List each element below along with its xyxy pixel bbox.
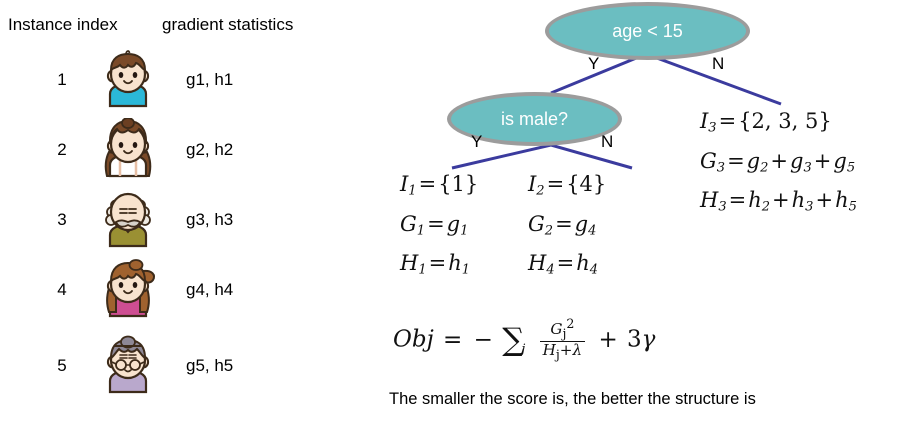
- objective-formula: Obj = − ∑j Gj2 Hj+λ + 3γ: [393, 318, 655, 363]
- leaf-middle-hessian-sum: H4=h4: [528, 247, 606, 287]
- fraction-denominator: Hj+λ: [540, 342, 586, 362]
- objective-fraction: Gj2 Hj+λ: [540, 317, 586, 362]
- leaf-left-gradient-sum: G1=g1: [400, 208, 478, 248]
- leaf-left-hessian-sum: H1=h1: [400, 247, 478, 287]
- leaf-stats-middle: I2={4} G2=g4 H4=h4: [528, 168, 606, 287]
- leaf-middle-gradient-sum: G2=g4: [528, 208, 606, 248]
- edge-label-ismale-no: N: [601, 132, 613, 152]
- edge-label-root-yes: Y: [588, 54, 599, 74]
- leaf-middle-instances: I2={4}: [528, 168, 606, 208]
- objective-gamma: γ: [642, 327, 656, 353]
- objective-coefficient: 3: [627, 327, 642, 353]
- edge-label-root-no: N: [712, 54, 724, 74]
- leaf-stats-right: I3={2, 3, 5} G3=g2+g3+g5 H3=h2+h3+h5: [700, 105, 857, 224]
- leaf-left-instances: I1={1}: [400, 168, 478, 208]
- summation-index: j: [521, 341, 525, 356]
- objective-minus: −: [472, 327, 495, 353]
- caption-text: The smaller the score is, the better the…: [389, 390, 756, 409]
- fraction-numerator: Gj2: [540, 317, 586, 342]
- objective-plus: +: [596, 327, 619, 353]
- leaf-right-gradient-sum: G3=g2+g3+g5: [700, 145, 857, 185]
- objective-equals: =: [441, 327, 464, 353]
- tree-node-age[interactable]: age < 15: [545, 2, 750, 60]
- objective-lhs: Obj: [393, 327, 434, 353]
- slide-canvas: Instance index gradient statistics 1: [0, 0, 920, 421]
- leaf-right-hessian-sum: H3=h2+h3+h5: [700, 184, 857, 224]
- leaf-right-instances: I3={2, 3, 5}: [700, 105, 857, 145]
- edge-label-ismale-yes: Y: [471, 132, 482, 152]
- leaf-stats-left: I1={1} G1=g1 H1=h1: [400, 168, 478, 287]
